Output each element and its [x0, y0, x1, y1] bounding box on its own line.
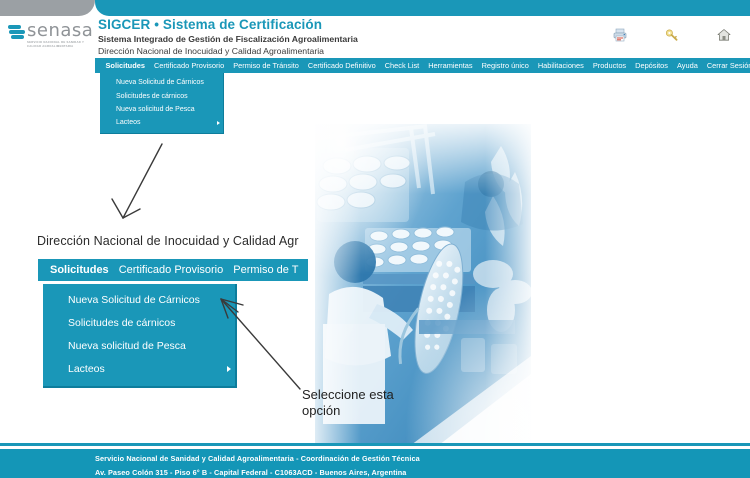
- page-title: SIGCER • Sistema de Certificación: [98, 17, 598, 32]
- nav-item-certificado-provisorio[interactable]: Certificado Provisorio: [149, 61, 228, 70]
- chevron-right-icon: [227, 366, 231, 372]
- zoom-callout-arrowhead-a: [112, 199, 123, 218]
- footer-accent-line: [0, 443, 750, 446]
- dropdown-item-lacteos[interactable]: Lacteos: [100, 116, 223, 129]
- footer-line-2: Av. Paseo Colón 315 - Piso 6° B - Capita…: [95, 468, 406, 477]
- nav-item-depositos[interactable]: Depósitos: [631, 61, 673, 70]
- callout-nav-item-certificado-provisorio[interactable]: Certificado Provisorio: [114, 264, 229, 276]
- annotation-text: Seleccione esta opción: [302, 387, 394, 419]
- dropdown-item-nueva-solicitud-de-pesca[interactable]: Nueva solicitud de Pesca: [100, 103, 223, 116]
- nav-item-solicitudes[interactable]: Solicitudes: [101, 61, 149, 70]
- printer-icon[interactable]: [610, 25, 630, 45]
- nav-item-check-list[interactable]: Check List: [380, 61, 424, 70]
- dropdown-item-solicitudes-de-carnicos[interactable]: Solicitudes de cárnicos: [100, 89, 223, 102]
- nav-item-habilitaciones[interactable]: Habilitaciones: [533, 61, 588, 70]
- callout-nav-item-permiso-de-transito[interactable]: Permiso de T: [228, 264, 303, 276]
- nav-item-cerrar-sesion[interactable]: Cerrar Sesión: [702, 61, 750, 70]
- header-titles: SIGCER • Sistema de Certificación Sistem…: [98, 17, 598, 57]
- callout-dropdown-item-lacteos[interactable]: Lacteos: [43, 357, 235, 380]
- callout-dropdown-item-solicitudes-de-carnicos[interactable]: Solicitudes de cárnicos: [43, 311, 235, 334]
- page-root: senasa SERVICIO NACIONAL DE SANIDAD Y CA…: [0, 0, 750, 478]
- annotation-line-2: opción: [302, 403, 394, 419]
- callout-dropdown-item-nueva-solicitud-de-carnicos[interactable]: Nueva Solicitud de Cárnicos: [43, 288, 235, 311]
- senasa-logo[interactable]: senasa SERVICIO NACIONAL DE SANIDAD Y CA…: [8, 22, 92, 54]
- nav-item-herramientas[interactable]: Herramientas: [424, 61, 477, 70]
- callout-navbar: Solicitudes Certificado Provisorio Permi…: [38, 259, 308, 281]
- solicitudes-dropdown: Nueva Solicitud de Cárnicos Solicitudes …: [100, 73, 224, 134]
- zoom-callout-arrow: [123, 144, 162, 218]
- callout-nav-item-solicitudes[interactable]: Solicitudes: [45, 264, 114, 276]
- zoom-callout-arrowhead-b: [123, 209, 140, 218]
- dropdown-item-nueva-solicitud-de-carnicos[interactable]: Nueva Solicitud de Cárnicos: [100, 76, 223, 89]
- key-icon[interactable]: [662, 25, 682, 45]
- page-subtitle: Sistema Integrado de Gestión de Fiscaliz…: [98, 33, 598, 45]
- callout-gap: [235, 281, 308, 377]
- nav-item-ayuda[interactable]: Ayuda: [673, 61, 703, 70]
- callout-dropdown-item-lacteos-label: Lacteos: [68, 363, 105, 375]
- senasa-logo-subtitle: SERVICIO NACIONAL DE SANIDAD Y CALIDAD A…: [27, 40, 93, 48]
- footer: Servicio Nacional de Sanidad y Calidad A…: [0, 449, 750, 478]
- chevron-right-icon: [217, 121, 220, 125]
- footer-line-1: Servicio Nacional de Sanidad y Calidad A…: [95, 454, 420, 463]
- callout-dropdown: Nueva Solicitud de Cárnicos Solicitudes …: [43, 284, 237, 388]
- home-icon[interactable]: [714, 25, 734, 45]
- callout-title: Dirección Nacional de Inocuidad y Calida…: [37, 234, 299, 248]
- nav-item-productos[interactable]: Productos: [588, 61, 630, 70]
- senasa-logo-mark-icon: [8, 25, 24, 40]
- top-teal-bar: [95, 0, 750, 16]
- nav-item-certificado-definitivo[interactable]: Certificado Definitivo: [303, 61, 380, 70]
- senasa-logo-wordmark: senasa: [27, 20, 93, 41]
- annotation-line-1: Seleccione esta: [302, 387, 394, 403]
- callout-dropdown-item-nueva-solicitud-de-pesca[interactable]: Nueva solicitud de Pesca: [43, 334, 235, 357]
- top-gray-bar: [0, 0, 95, 16]
- dropdown-item-lacteos-label: Lacteos: [116, 119, 141, 126]
- page-subtitle-2: Dirección Nacional de Inocuidad y Calida…: [98, 45, 598, 57]
- nav-item-permiso-de-transito[interactable]: Permiso de Tránsito: [229, 61, 304, 70]
- main-navbar: Solicitudes Certificado Provisorio Permi…: [95, 58, 750, 73]
- nav-item-registro-unico[interactable]: Registro único: [477, 61, 533, 70]
- header-icon-group: [610, 25, 734, 45]
